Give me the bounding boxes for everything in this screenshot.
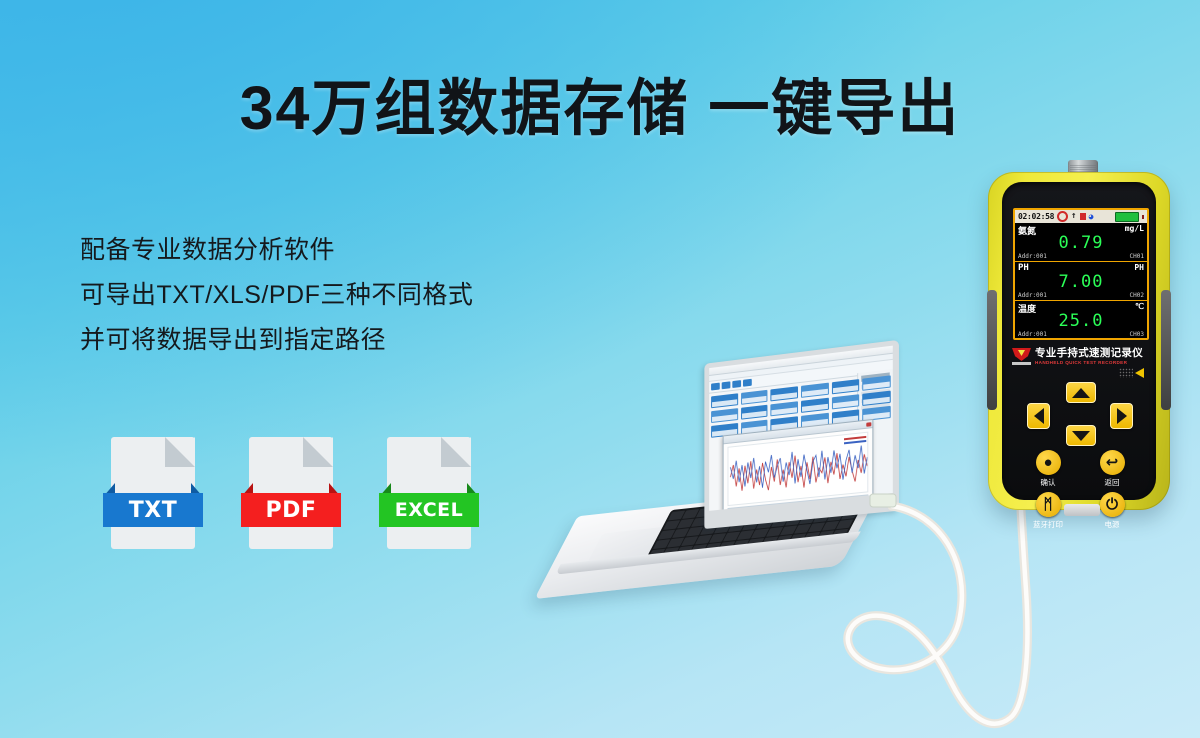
export-format-icons: TXT PDF EXCEL bbox=[103, 437, 479, 549]
data-card[interactable] bbox=[832, 379, 860, 394]
chevron-down-icon bbox=[1072, 431, 1090, 441]
dpad-right-button[interactable] bbox=[1110, 403, 1133, 429]
measurement-row: PH PH 7.00 Addr:001 CH02 bbox=[1015, 262, 1147, 301]
storage-icon bbox=[1080, 213, 1086, 220]
pdf-ribbon-label: PDF bbox=[241, 493, 341, 527]
data-card[interactable] bbox=[741, 390, 768, 405]
confirm-button-wrap[interactable]: ● 确认 bbox=[1022, 450, 1074, 488]
channel-unit: PH bbox=[1134, 263, 1144, 272]
dpad bbox=[1024, 382, 1136, 444]
confirm-icon: ● bbox=[1036, 450, 1061, 475]
brand-name-cn: 专业手持式速测记录仪 bbox=[1035, 348, 1143, 359]
pdf-file-icon: PDF bbox=[241, 437, 341, 549]
battery-icon bbox=[1115, 212, 1139, 222]
close-icon[interactable] bbox=[866, 422, 871, 427]
back-button-label: 返回 bbox=[1105, 477, 1120, 488]
chevron-up-icon bbox=[1072, 388, 1090, 398]
usb-connector bbox=[870, 494, 896, 507]
speaker-icon bbox=[1119, 368, 1144, 378]
page-title: 34万组数据存储 一键导出 bbox=[0, 58, 1200, 147]
device-front-panel: 02:02:58 ↑ ◕ 氨氮 mg/L 0.79 Addr:001 CH01 bbox=[1002, 182, 1156, 500]
toolbar-button[interactable] bbox=[722, 381, 731, 389]
power-icon: ⏻ bbox=[1100, 492, 1125, 517]
signal-icon: ◕ bbox=[1089, 212, 1094, 221]
device-body: 02:02:58 ↑ ◕ 氨氮 mg/L 0.79 Addr:001 CH01 bbox=[988, 172, 1170, 510]
poster-canvas: 34万组数据存储 一键导出 配备专业数据分析软件 可导出TXT/XLS/PDF三… bbox=[0, 0, 1200, 738]
feature-copy: 配备专业数据分析软件 可导出TXT/XLS/PDF三种不同格式 并可将数据导出到… bbox=[80, 228, 473, 363]
battery-cap-icon bbox=[1142, 215, 1144, 219]
data-card[interactable] bbox=[771, 401, 798, 416]
screen-status-bar: 02:02:58 ↑ ◕ bbox=[1015, 210, 1147, 223]
copy-line-1: 配备专业数据分析软件 bbox=[80, 228, 473, 273]
data-card[interactable] bbox=[771, 386, 798, 401]
toolbar-button[interactable] bbox=[743, 379, 752, 387]
channel-id: CH03 bbox=[1130, 331, 1144, 338]
handheld-meter: 02:02:58 ↑ ◕ 氨氮 mg/L 0.79 Addr:001 CH01 bbox=[980, 160, 1180, 512]
copy-line-3: 并可将数据导出到指定路径 bbox=[80, 318, 473, 363]
record-icon bbox=[1057, 211, 1068, 222]
channel-value: 7.00 bbox=[1015, 272, 1147, 292]
side-grip-right bbox=[1161, 290, 1171, 410]
status-clock: 02:02:58 bbox=[1018, 212, 1054, 221]
copy-line-2: 可导出TXT/XLS/PDF三种不同格式 bbox=[80, 273, 473, 318]
dpad-up-button[interactable] bbox=[1066, 382, 1096, 403]
data-card[interactable] bbox=[832, 394, 860, 409]
channel-value: 0.79 bbox=[1015, 233, 1147, 253]
txt-ribbon-label: TXT bbox=[103, 493, 203, 527]
back-button-wrap[interactable]: ↩ 返回 bbox=[1086, 450, 1138, 488]
usb-port bbox=[1064, 504, 1100, 516]
bluetooth-print-button-label: 蓝牙打印 bbox=[1033, 519, 1063, 530]
confirm-button-label: 确认 bbox=[1041, 477, 1056, 488]
measurement-row: 氨氮 mg/L 0.79 Addr:001 CH01 bbox=[1015, 223, 1147, 262]
side-grip-left bbox=[987, 290, 997, 410]
channel-address: Addr:001 bbox=[1018, 331, 1047, 338]
upload-arrow-icon: ↑ bbox=[1071, 212, 1076, 221]
dpad-left-button[interactable] bbox=[1027, 403, 1050, 429]
data-card[interactable] bbox=[711, 393, 738, 408]
channel-address: Addr:001 bbox=[1018, 292, 1047, 299]
channel-unit: mg/L bbox=[1125, 224, 1144, 233]
txt-file-icon: TXT bbox=[103, 437, 203, 549]
back-arrow-icon: ↩ bbox=[1100, 450, 1125, 475]
channel-address: Addr:001 bbox=[1018, 253, 1047, 260]
channel-id: CH02 bbox=[1130, 292, 1144, 299]
brand-logo-icon bbox=[1012, 348, 1031, 365]
data-card[interactable] bbox=[711, 408, 738, 423]
power-button-label: 电源 bbox=[1105, 519, 1120, 530]
toolbar-button[interactable] bbox=[732, 380, 741, 388]
device-branding: 专业手持式速测记录仪 HANDHELD QUICK TEST RECORDER bbox=[1012, 348, 1148, 365]
chevron-left-icon bbox=[1034, 408, 1044, 424]
channel-unit: ℃ bbox=[1135, 302, 1144, 311]
brand-name-en: HANDHELD QUICK TEST RECORDER bbox=[1035, 361, 1143, 366]
device-screen: 02:02:58 ↑ ◕ 氨氮 mg/L 0.79 Addr:001 CH01 bbox=[1013, 208, 1149, 340]
channel-value: 25.0 bbox=[1015, 311, 1147, 331]
data-card[interactable] bbox=[801, 383, 829, 398]
channel-id: CH01 bbox=[1130, 253, 1144, 260]
dpad-down-button[interactable] bbox=[1066, 425, 1096, 446]
chevron-right-icon bbox=[1117, 408, 1127, 424]
excel-ribbon-label: EXCEL bbox=[379, 493, 479, 527]
toolbar-button[interactable] bbox=[711, 383, 720, 391]
device-button-pad: ● 确认 ↩ 返回 ᛗ 蓝牙打印 bbox=[1022, 450, 1138, 534]
bluetooth-icon: ᛗ bbox=[1036, 492, 1061, 517]
data-card[interactable] bbox=[741, 405, 768, 420]
data-card[interactable] bbox=[801, 398, 829, 413]
measurement-row: 温度 ℃ 25.0 Addr:001 CH03 bbox=[1015, 301, 1147, 339]
excel-file-icon: EXCEL bbox=[379, 437, 479, 549]
